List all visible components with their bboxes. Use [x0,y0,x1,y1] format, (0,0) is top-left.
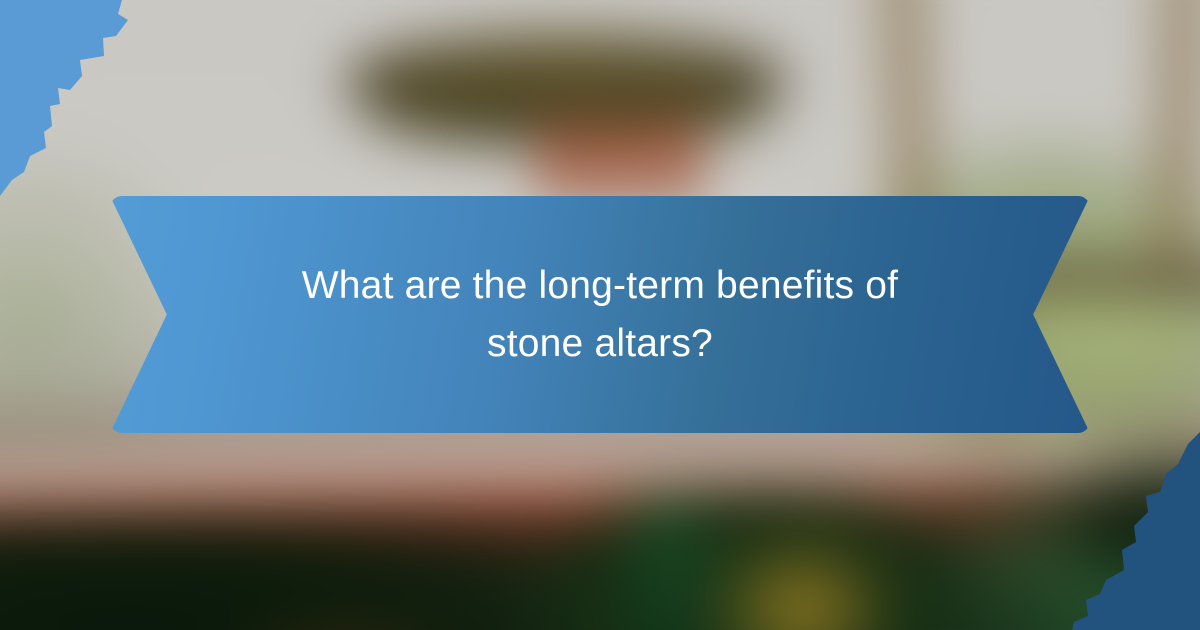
yellow-foliage-highlight [695,526,912,630]
dark-foliage-blob [1061,466,1200,586]
parasol-post-c [657,119,698,198]
question-text: What are the long-term benefits of stone… [250,257,950,372]
parasol-post-b [600,123,642,198]
parasol-post-a [543,123,585,198]
question-banner: What are the long-term benefits of stone… [110,196,1090,433]
question-card: What are the long-term benefits of stone… [0,0,1200,630]
warm-foliage-glow [193,601,491,630]
banner-text-container: What are the long-term benefits of stone… [110,196,1090,433]
